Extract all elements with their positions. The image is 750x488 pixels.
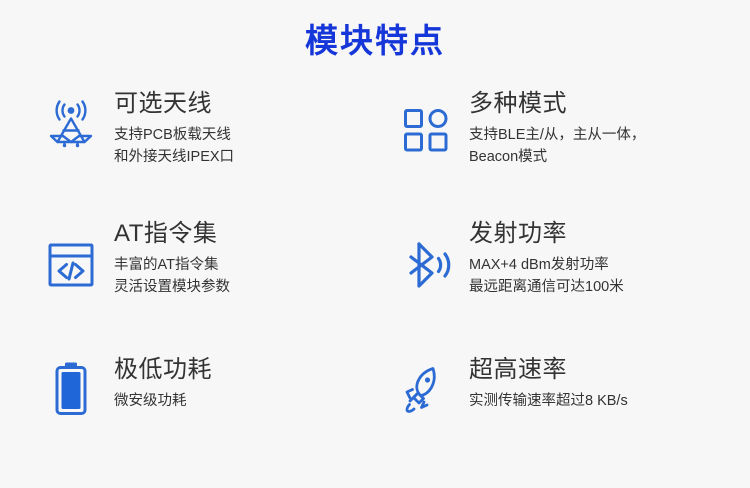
feature-description: MAX+4 dBm发射功率 最远距离通信可达100米	[469, 254, 624, 299]
feature-description: 支持BLE主/从，主从一体， Beacon模式	[469, 124, 645, 169]
feature-text-block: 超高速率 实测传输速率超过8 KB/s	[469, 347, 628, 413]
feature-description-line: 实测传输速率超过8 KB/s	[469, 390, 628, 412]
feature-description-line: Beacon模式	[469, 146, 645, 168]
feature-description-line: 微安级功耗	[114, 390, 212, 412]
feature-text-block: 多种模式 支持BLE主/从，主从一体， Beacon模式	[469, 87, 645, 169]
feature-text-block: AT指令集 丰富的AT指令集 灵活设置模块参数	[114, 217, 230, 299]
feature-description-line: 灵活设置模块参数	[114, 276, 230, 298]
feature-heading: 发射功率	[469, 219, 624, 248]
grid-modes-icon	[395, 87, 457, 167]
feature-description-line: MAX+4 dBm发射功率	[469, 254, 624, 276]
feature-description: 支持PCB板载天线 和外接天线IPEX口	[114, 124, 234, 169]
rocket-icon	[395, 347, 457, 425]
feature-heading: 极低功耗	[114, 355, 212, 384]
feature-description-line: 支持BLE主/从，主从一体，	[469, 124, 645, 146]
feature-highlights-page: 模块特点	[0, 0, 750, 488]
feature-text-block: 可选天线 支持PCB板载天线 和外接天线IPEX口	[114, 87, 234, 169]
page-title: 模块特点	[0, 0, 750, 61]
feature-text-block: 发射功率 MAX+4 dBm发射功率 最远距离通信可达100米	[469, 217, 624, 299]
feature-item-transmit-power: 发射功率 MAX+4 dBm发射功率 最远距离通信可达100米	[395, 217, 750, 347]
feature-description-line: 丰富的AT指令集	[114, 254, 230, 276]
feature-description: 丰富的AT指令集 灵活设置模块参数	[114, 254, 230, 299]
feature-description-line: 支持PCB板载天线	[114, 124, 234, 146]
bluetooth-signal-icon	[395, 217, 457, 301]
feature-heading: 可选天线	[114, 89, 234, 118]
feature-heading: 超高速率	[469, 355, 628, 384]
feature-item-multiple-modes: 多种模式 支持BLE主/从，主从一体， Beacon模式	[395, 87, 750, 217]
feature-description: 微安级功耗	[114, 390, 212, 412]
features-grid: 可选天线 支持PCB板载天线 和外接天线IPEX口 多种模式	[0, 87, 750, 465]
feature-text-block: 极低功耗 微安级功耗	[114, 347, 212, 413]
feature-heading: AT指令集	[114, 219, 230, 248]
code-window-icon	[40, 217, 102, 301]
feature-description-line: 和外接天线IPEX口	[114, 146, 234, 168]
feature-description: 实测传输速率超过8 KB/s	[469, 390, 628, 412]
feature-item-ultra-high-speed: 超高速率 实测传输速率超过8 KB/s	[395, 347, 750, 465]
feature-description-line: 最远距离通信可达100米	[469, 276, 624, 298]
antenna-tower-icon	[40, 87, 102, 161]
battery-icon	[40, 347, 102, 425]
feature-heading: 多种模式	[469, 89, 645, 118]
feature-item-optional-antenna: 可选天线 支持PCB板载天线 和外接天线IPEX口	[40, 87, 395, 217]
feature-item-ultra-low-power: 极低功耗 微安级功耗	[40, 347, 395, 465]
feature-item-at-command-set: AT指令集 丰富的AT指令集 灵活设置模块参数	[40, 217, 395, 347]
